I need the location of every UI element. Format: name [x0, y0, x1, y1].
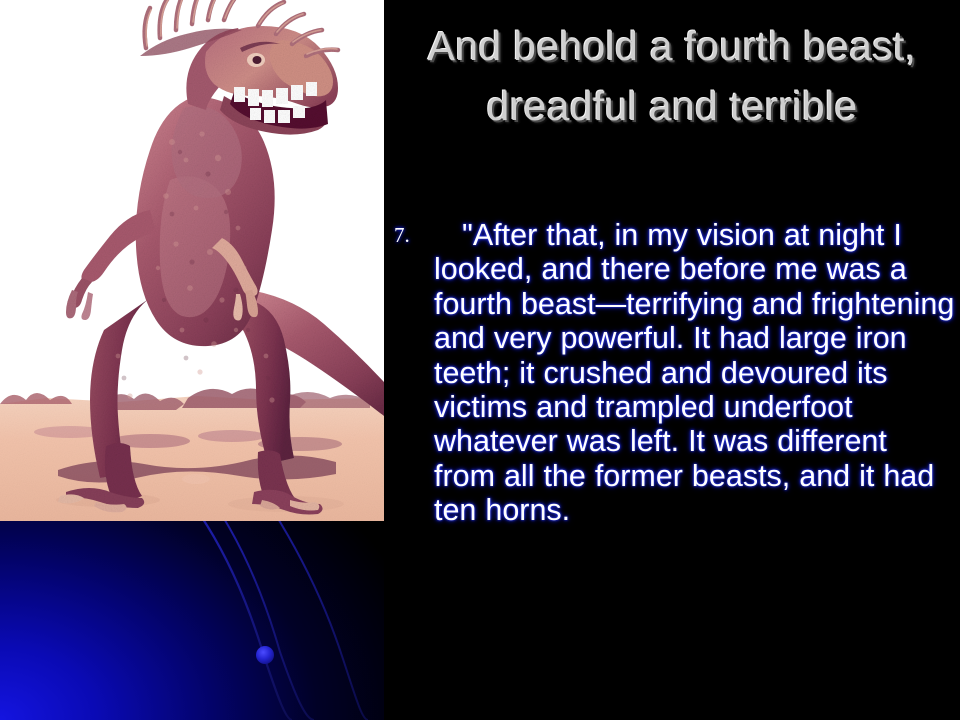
bullet-paragraph: "After that, in my vision at night I loo… [434, 218, 956, 528]
bullet-list: 7. "After that, in my vision at night I … [390, 218, 956, 528]
dinosaur-image [0, 0, 384, 521]
slide-title: And behold a fourth beast, dreadful and … [392, 16, 952, 136]
slide-canvas: And behold a fourth beast, dreadful and … [0, 0, 960, 720]
content-column: And behold a fourth beast, dreadful and … [384, 0, 960, 720]
picture-ground [0, 388, 384, 521]
bullet-marker: 7. [390, 218, 434, 252]
dinosaur-illustration-graphic [0, 0, 384, 521]
decor-node-dot [256, 646, 274, 664]
